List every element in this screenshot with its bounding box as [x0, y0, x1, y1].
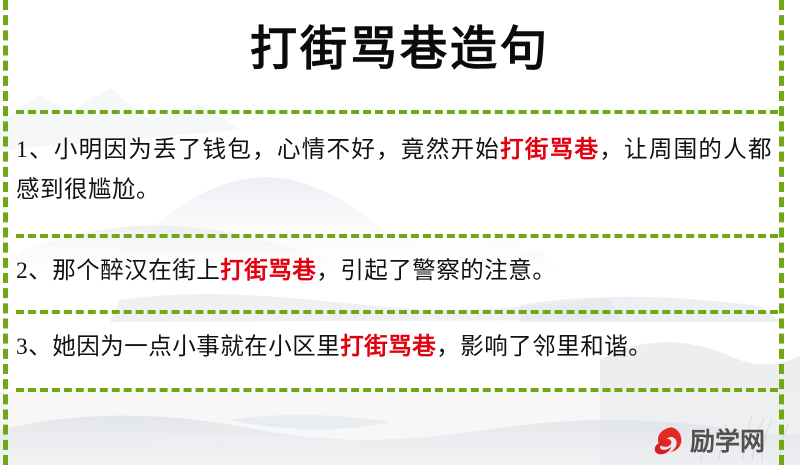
separator-top [16, 110, 778, 114]
sentence-index: 2、 [16, 258, 52, 284]
sentence-text-before: 那个醉汉在街上 [52, 258, 220, 284]
example-sentence-3: 3、她因为一点小事就在小区里打街骂巷，影响了邻里和谐。 [16, 327, 772, 367]
sentence-index: 3、 [16, 334, 52, 360]
page-title: 打街骂巷造句 [0, 22, 800, 78]
sentence-text-before: 小明因为丢了钱包，心情不好，竟然开始 [54, 137, 500, 163]
keyword-highlight: 打街骂巷 [340, 334, 436, 360]
page-root: 打街骂巷造句 1、小明因为丢了钱包，心情不好，竟然开始打街骂巷，让周围的人都感到… [0, 0, 800, 465]
sentence-index: 1、 [16, 137, 54, 163]
example-sentence-1: 1、小明因为丢了钱包，心情不好，竟然开始打街骂巷，让周围的人都感到很尴尬。 [16, 130, 772, 210]
sentence-text-after: ，影响了邻里和谐。 [436, 334, 652, 360]
site-logo[interactable]: 励学网 [650, 421, 770, 461]
separator-bottom [16, 388, 778, 392]
flame-swirl-icon [650, 424, 684, 458]
sentence-text-before: 她因为一点小事就在小区里 [52, 334, 340, 360]
separator-1-2 [16, 234, 778, 238]
separator-2-3 [16, 310, 778, 314]
sentence-text-after: ，引起了警察的注意。 [316, 258, 556, 284]
logo-text: 励学网 [690, 429, 765, 454]
keyword-highlight: 打街骂巷 [500, 137, 599, 163]
example-sentence-2: 2、那个醉汉在街上打街骂巷，引起了警察的注意。 [16, 251, 772, 291]
keyword-highlight: 打街骂巷 [220, 258, 316, 284]
